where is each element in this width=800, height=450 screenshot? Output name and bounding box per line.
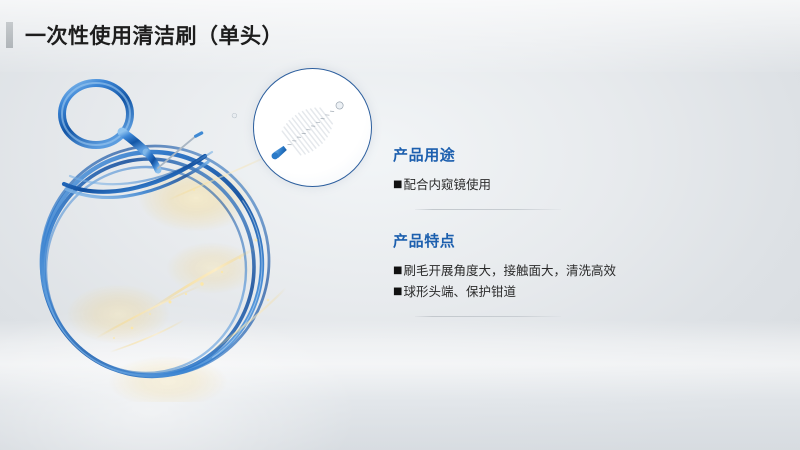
section-heading-features: 产品特点 (393, 232, 693, 250)
finger-ring-handle (62, 83, 158, 170)
title-label: 一次性使用清洁刷（单头） (25, 20, 283, 50)
info-section-features: 产品特点 ■ 刷毛开展角度大，接触面大，清洗高效 ■ 球形头端、保护钳道 (393, 232, 693, 317)
bullet-marker-icon: ■ (393, 175, 402, 195)
title-accent-bar (6, 22, 13, 48)
bullet-item: ■ 配合内窥镜使用 (393, 175, 693, 195)
page-title: 一次性使用清洁刷（单头） (0, 18, 283, 52)
info-section-usage: 产品用途 ■ 配合内窥镜使用 (393, 146, 693, 210)
brush-head (191, 108, 240, 142)
bullet-item: ■ 刷毛开展角度大，接触面大，清洗高效 (393, 261, 693, 281)
bullet-marker-icon: ■ (393, 261, 402, 281)
section-spacer (393, 210, 693, 232)
bullet-marker-icon: ■ (393, 282, 402, 302)
slide-canvas: 一次性使用清洁刷（单头） (0, 0, 800, 450)
section-heading-usage: 产品用途 (393, 146, 693, 164)
bullet-item: ■ 球形头端、保护钳道 (393, 282, 693, 302)
bullet-text: 刷毛开展角度大，接触面大，清洗高效 (403, 261, 616, 281)
bullet-text: 配合内窥镜使用 (403, 175, 491, 195)
section-divider (415, 316, 561, 317)
bullet-text: 球形头端、保护钳道 (403, 282, 516, 302)
magnified-brush-head (253, 68, 372, 187)
product-info-panel: 产品用途 ■ 配合内窥镜使用 产品特点 ■ 刷毛开展角度大，接触面大，清洗高效 … (393, 146, 693, 317)
